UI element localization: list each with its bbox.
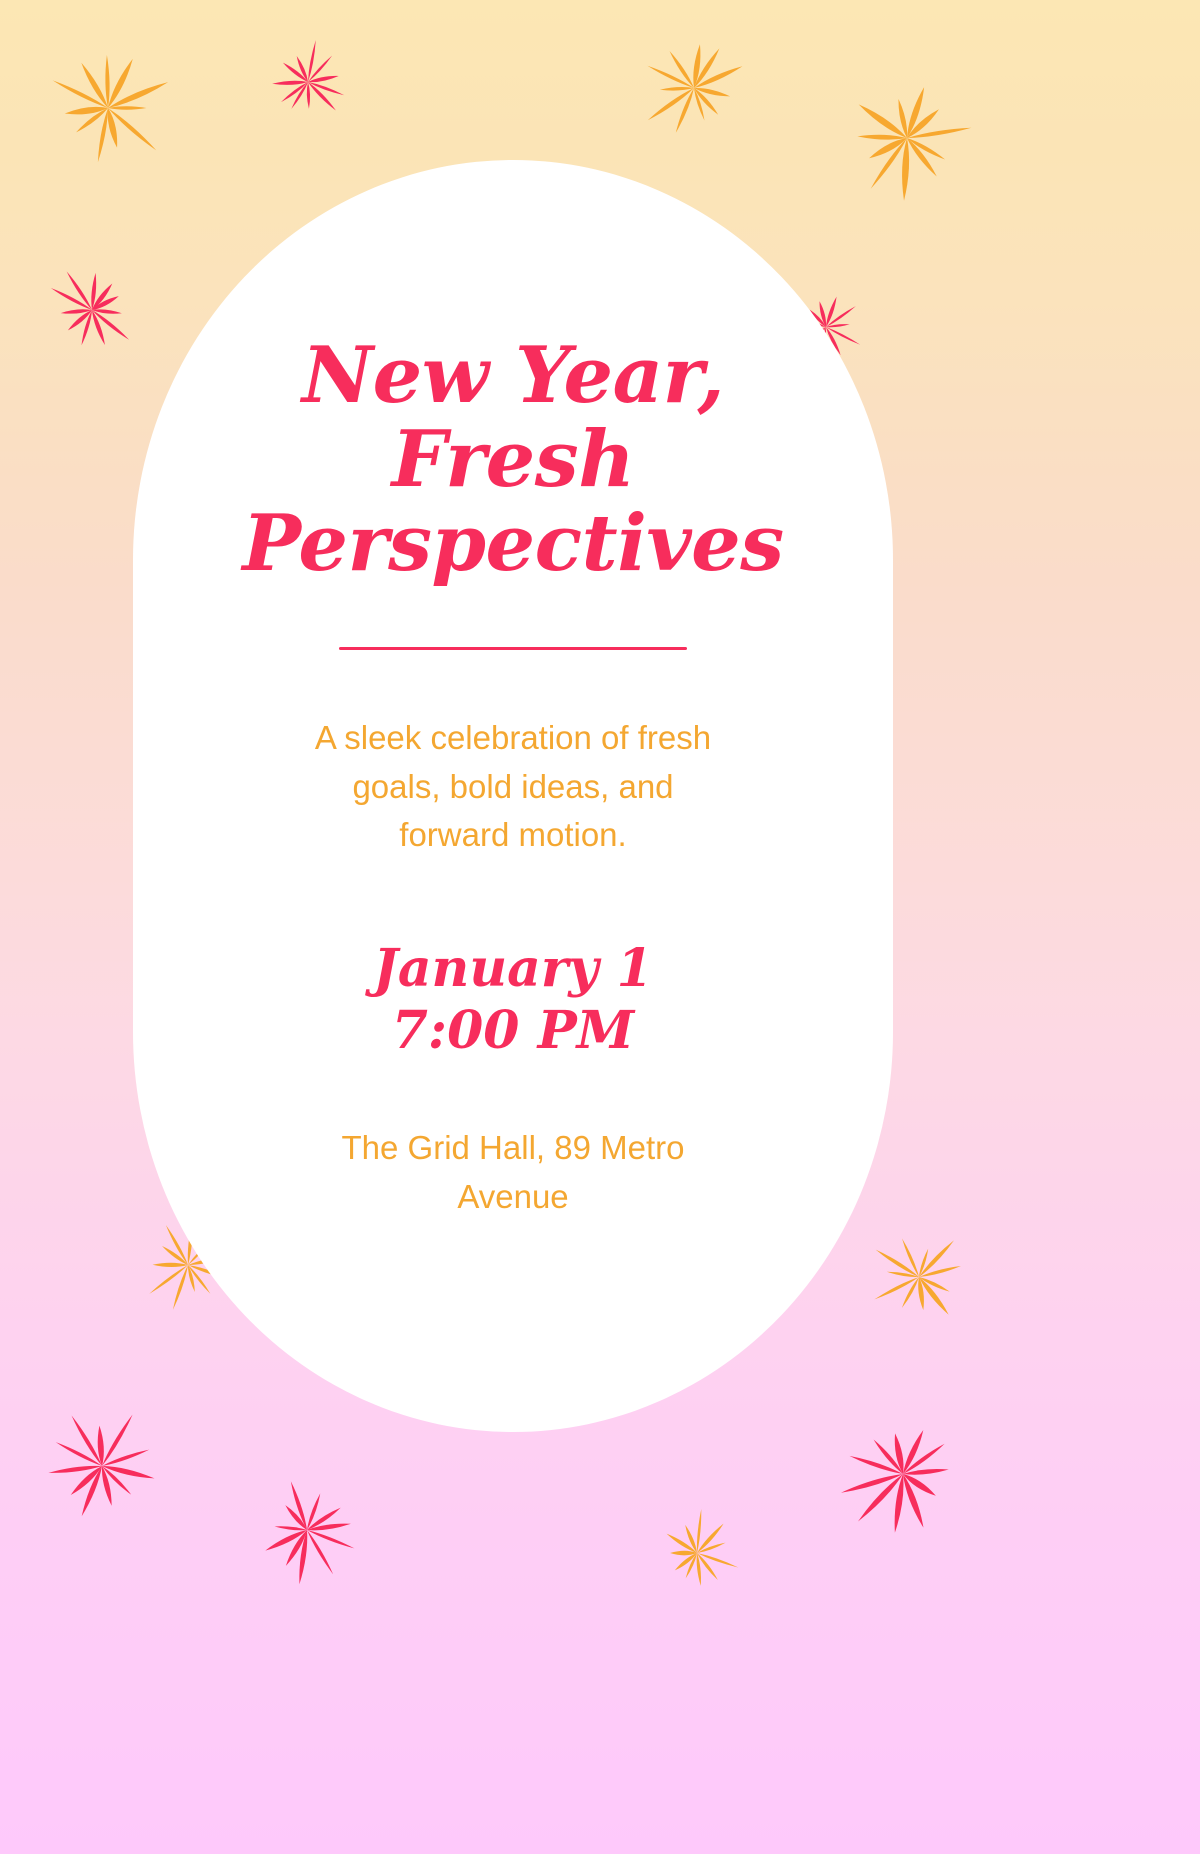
burst-ray [693,86,730,99]
burst-ray [272,80,308,86]
burst-ray [666,1532,698,1555]
burst-ray [918,1248,930,1277]
burst-ray [647,64,695,89]
burst-ray [297,1530,310,1585]
burst-ray [50,287,93,312]
burst-ray [901,1238,921,1278]
burst-ray [274,1525,307,1531]
burst-ray [307,55,333,83]
content-card-inner: New Year, Fresh Perspectives A sleek cel… [133,160,893,1432]
burst-ray [107,106,158,151]
burst-ray [696,1522,725,1554]
burst-ray [96,1425,104,1466]
burst-ray [917,1277,926,1311]
burst-ray [92,308,122,315]
burst-ray [64,105,108,117]
burst-ray [66,308,93,332]
burst-ray [903,1467,949,1476]
burst-ray [48,1464,102,1475]
burst-ray [90,282,114,311]
burst-ray [918,1275,950,1293]
burst-ray [697,1541,727,1554]
burst-ray [917,1239,955,1279]
burst-ray [684,1552,698,1579]
burst-ray [901,138,911,201]
title-divider [339,647,687,650]
burst-ray [284,1504,309,1532]
burst-ray [289,1481,309,1531]
burst-ray [99,1465,114,1506]
burst-ray [693,64,743,90]
burst-ray [857,102,909,141]
firework-burst-icon [249,1478,370,1600]
burst-ray [264,1528,308,1553]
burst-ray [307,40,317,82]
burst-ray [295,55,310,82]
burst-ray [90,273,98,311]
burst-ray [907,126,972,140]
subtitle-text: A sleek celebration of fresh goals, bold… [298,714,728,860]
burst-ray [696,1552,719,1581]
burst-ray [674,87,696,133]
burst-ray [902,1442,946,1475]
burst-ray [65,271,93,311]
burst-ray [674,1551,699,1571]
firework-burst-icon [44,49,172,168]
burst-ray [696,1509,703,1553]
burst-ray [905,107,941,140]
burst-ray [693,88,706,121]
burst-ray [282,61,309,83]
burst-ray [306,1529,355,1550]
burst-ray [101,1448,149,1468]
burst-ray [306,1506,342,1532]
burst-ray [105,58,135,110]
burst-ray [896,98,909,138]
burst-ray [849,1454,904,1476]
poster-canvas: New Year, Fresh Perspectives A sleek cel… [0,0,1200,1854]
burst-ray [105,55,110,108]
burst-ray [91,294,120,312]
page-title: New Year, Fresh Perspectives [242,334,783,587]
burst-ray [892,1433,906,1475]
burst-ray [80,310,94,346]
burst-ray [101,1465,133,1496]
burst-ray [684,1524,699,1554]
burst-ray [904,86,927,139]
burst-ray [660,86,694,91]
burst-ray [905,136,939,178]
burst-ray [308,74,339,84]
burst-ray [307,1521,352,1532]
burst-ray [90,309,107,346]
burst-ray [906,136,946,161]
burst-ray [857,134,907,140]
burst-ray [892,1474,906,1534]
burst-ray [900,1473,926,1529]
burst-ray [306,82,310,109]
burst-ray [69,1464,104,1497]
burst-ray [901,1471,937,1498]
burst-ray [101,1463,155,1481]
burst-ray [307,81,337,112]
burst-ray [79,61,110,109]
firework-burst-icon [266,31,358,123]
burst-ray [670,1551,697,1556]
burst-ray [305,1493,322,1531]
burst-ray [647,86,696,122]
burst-ray [868,135,909,161]
content-card: New Year, Fresh Perspectives A sleek cel… [133,160,893,1432]
burst-ray [290,81,309,109]
firework-burst-icon [656,1502,750,1594]
burst-ray [280,81,309,104]
burst-ray [107,80,169,111]
event-datetime: January 1 7:00 PM [373,938,653,1061]
burst-ray [919,1264,962,1278]
burst-ray [284,1529,310,1567]
burst-ray [100,1414,134,1467]
burst-ray [691,44,702,89]
firework-burst-icon [635,34,747,145]
burst-ray [840,1472,903,1495]
burst-ray [308,81,345,97]
burst-ray [306,1529,335,1575]
burst-ray [91,309,130,342]
burst-ray [55,1441,103,1468]
burst-ray [75,106,110,134]
burst-ray [105,107,120,148]
burst-ray [79,1465,104,1517]
burst-ray [917,1275,951,1316]
burst-ray [697,1552,739,1569]
burst-ray [692,47,721,89]
event-venue: The Grid Hall, 89 Metro Avenue [313,1123,713,1222]
burst-ray [52,79,109,110]
burst-ray [108,106,146,109]
burst-ray [61,308,93,315]
burst-ray [695,1553,702,1586]
burst-ray [96,108,110,163]
burst-ray [872,1438,905,1475]
burst-ray [70,1414,104,1467]
burst-ray [668,50,696,89]
burst-ray [856,1472,905,1523]
burst-ray [900,1429,925,1475]
burst-ray [692,87,719,116]
burst-ray [901,1276,921,1308]
firework-burst-icon [42,266,139,353]
